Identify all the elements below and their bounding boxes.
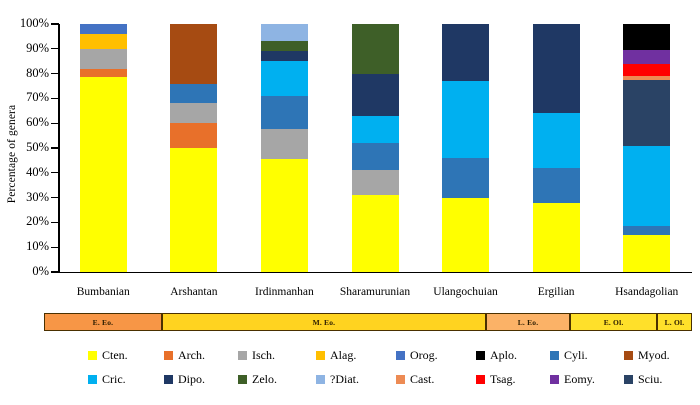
bar-hsandagolian[interactable] xyxy=(623,24,670,272)
legend-item-alag[interactable]: Alag. xyxy=(316,348,356,363)
bar-segment-alag[interactable] xyxy=(80,34,127,49)
y-axis-tick-label: 60% xyxy=(26,116,49,128)
legend-swatch-icon xyxy=(88,351,97,360)
legend-row: Cten.Arch.Isch.Alag.Orog.Aplo.Cyli.Myod. xyxy=(88,348,688,372)
epoch-cell-meo[interactable]: M. Eo. xyxy=(162,313,486,331)
legend-item-eomy[interactable]: Eomy. xyxy=(550,372,595,387)
bar-segment-arch[interactable] xyxy=(80,69,127,78)
legend-label: Myod. xyxy=(638,348,670,363)
y-axis-tick-label: 20% xyxy=(26,215,49,227)
bar-segment-diat[interactable] xyxy=(261,24,308,41)
legend-item-cric[interactable]: Cric. xyxy=(88,372,126,387)
legend-label: Alag. xyxy=(330,348,356,363)
bar-segment-isch[interactable] xyxy=(352,170,399,195)
legend-label: Arch. xyxy=(178,348,205,363)
y-axis-tick-label: 70% xyxy=(26,91,49,103)
legend: Cten.Arch.Isch.Alag.Orog.Aplo.Cyli.Myod.… xyxy=(88,348,688,396)
bar-segment-dipo[interactable] xyxy=(442,158,489,198)
legend-label: Cyli. xyxy=(564,348,588,363)
bar-bumbanian[interactable] xyxy=(80,24,127,272)
y-axis-tick-label: 50% xyxy=(26,141,49,153)
legend-item-arch[interactable]: Arch. xyxy=(164,348,205,363)
bar-segment-tsag[interactable] xyxy=(623,64,670,76)
legend-label: ?Diat. xyxy=(330,372,359,387)
legend-swatch-icon xyxy=(316,375,325,384)
bar-segment-cten[interactable] xyxy=(533,203,580,272)
bar-segment-sciu[interactable] xyxy=(352,74,399,116)
x-axis-label-hsandagolian: Hsandagolian xyxy=(587,286,700,298)
bar-segment-dipo[interactable] xyxy=(533,168,580,203)
epoch-cell-lol[interactable]: L. Ol. xyxy=(657,313,692,331)
bar-segment-orog[interactable] xyxy=(80,24,127,34)
bar-segment-isch[interactable] xyxy=(261,129,308,159)
bar-segment-cric[interactable] xyxy=(442,81,489,158)
bar-segment-sciu[interactable] xyxy=(442,24,489,81)
bar-segment-cric[interactable] xyxy=(533,113,580,168)
epoch-cell-leo[interactable]: L. Eo. xyxy=(486,313,570,331)
legend-item-diat[interactable]: ?Diat. xyxy=(316,372,359,387)
bar-segment-cten[interactable] xyxy=(352,195,399,272)
bar-segment-cten[interactable] xyxy=(442,198,489,272)
bar-segment-myod[interactable] xyxy=(170,24,217,84)
legend-label: Dipo. xyxy=(178,372,205,387)
bar-segment-cyli[interactable] xyxy=(170,84,217,104)
y-axis-tick-label: 90% xyxy=(26,42,49,54)
legend-swatch-icon xyxy=(238,351,247,360)
legend-item-dipo[interactable]: Dipo. xyxy=(164,372,205,387)
legend-swatch-icon xyxy=(550,375,559,384)
legend-item-myod[interactable]: Myod. xyxy=(624,348,670,363)
legend-label: Cast. xyxy=(410,372,434,387)
legend-swatch-icon xyxy=(550,351,559,360)
legend-swatch-icon xyxy=(476,375,485,384)
legend-item-aplo[interactable]: Aplo. xyxy=(476,348,517,363)
bar-segment-zelo[interactable] xyxy=(352,24,399,74)
epoch-cell-eeo[interactable]: E. Eo. xyxy=(44,313,162,331)
y-axis-tick-label: 80% xyxy=(26,67,49,79)
legend-item-zelo[interactable]: Zelo. xyxy=(238,372,277,387)
legend-item-sciu[interactable]: Sciu. xyxy=(624,372,662,387)
legend-label: Cric. xyxy=(102,372,126,387)
legend-label: Eomy. xyxy=(564,372,595,387)
legend-swatch-icon xyxy=(88,375,97,384)
stacked-bar-chart: Percentage of genera 100%90%80%70%60%50%… xyxy=(0,0,700,405)
legend-swatch-icon xyxy=(164,375,173,384)
bar-segment-cast[interactable] xyxy=(623,76,670,80)
bar-segment-dipo[interactable] xyxy=(352,143,399,170)
bar-arshantan[interactable] xyxy=(170,24,217,272)
legend-label: Sciu. xyxy=(638,372,662,387)
legend-label: Orog. xyxy=(410,348,438,363)
legend-label: Aplo. xyxy=(490,348,517,363)
y-axis-tick-label: 0% xyxy=(32,265,49,277)
bar-segment-cric[interactable] xyxy=(352,116,399,143)
legend-swatch-icon xyxy=(476,351,485,360)
bar-segment-aplo[interactable] xyxy=(623,24,670,50)
bar-ergilian[interactable] xyxy=(533,24,580,272)
legend-swatch-icon xyxy=(316,351,325,360)
bar-segment-isch[interactable] xyxy=(80,49,127,69)
bar-segment-dipo[interactable] xyxy=(261,96,308,129)
legend-label: Tsag. xyxy=(490,372,516,387)
y-axis-tick-label: 100% xyxy=(20,17,49,29)
bar-segment-sciu[interactable] xyxy=(623,80,670,146)
y-axis-tick-label: 30% xyxy=(26,191,49,203)
bar-segment-cric[interactable] xyxy=(261,61,308,96)
epoch-cell-eol[interactable]: E. Ol. xyxy=(570,313,657,331)
legend-item-orog[interactable]: Orog. xyxy=(396,348,438,363)
legend-swatch-icon xyxy=(164,351,173,360)
bar-ulangochuian[interactable] xyxy=(442,24,489,272)
bar-segment-cten[interactable] xyxy=(623,235,670,272)
legend-item-tsag[interactable]: Tsag. xyxy=(476,372,516,387)
bar-segment-dipo[interactable] xyxy=(623,226,670,235)
legend-swatch-icon xyxy=(396,375,405,384)
legend-swatch-icon xyxy=(396,351,405,360)
bar-segment-cten[interactable] xyxy=(261,159,308,272)
bar-segment-cric[interactable] xyxy=(623,146,670,227)
legend-row: Cric.Dipo.Zelo.?Diat.Cast.Tsag.Eomy.Sciu… xyxy=(88,372,688,396)
plot-area xyxy=(58,24,692,272)
legend-swatch-icon xyxy=(238,375,247,384)
legend-item-cyli[interactable]: Cyli. xyxy=(550,348,588,363)
legend-item-cast[interactable]: Cast. xyxy=(396,372,434,387)
legend-item-isch[interactable]: Isch. xyxy=(238,348,275,363)
bar-sharamurunian[interactable] xyxy=(352,24,399,272)
bar-segment-sciu[interactable] xyxy=(533,24,580,113)
legend-swatch-icon xyxy=(624,375,633,384)
bar-segment-isch[interactable] xyxy=(170,103,217,123)
bar-segment-zelo[interactable] xyxy=(261,41,308,51)
bar-segment-arch[interactable] xyxy=(170,123,217,148)
bar-segment-cten[interactable] xyxy=(80,77,127,272)
bar-segment-cten[interactable] xyxy=(170,148,217,272)
bar-segment-sciu[interactable] xyxy=(261,51,308,61)
y-axis-tick-label: 40% xyxy=(26,166,49,178)
y-axis-label: Percentage of genera xyxy=(6,64,18,244)
bar-irdinmanhan[interactable] xyxy=(261,24,308,272)
legend-label: Zelo. xyxy=(252,372,277,387)
legend-swatch-icon xyxy=(624,351,633,360)
y-axis-tick-label: 10% xyxy=(26,240,49,252)
legend-label: Isch. xyxy=(252,348,275,363)
legend-label: Cten. xyxy=(102,348,128,363)
legend-item-cten[interactable]: Cten. xyxy=(88,348,128,363)
bar-segment-eomy[interactable] xyxy=(623,50,670,64)
epoch-band: E. Eo.M. Eo.L. Eo.E. Ol.L. Ol. xyxy=(44,313,692,331)
